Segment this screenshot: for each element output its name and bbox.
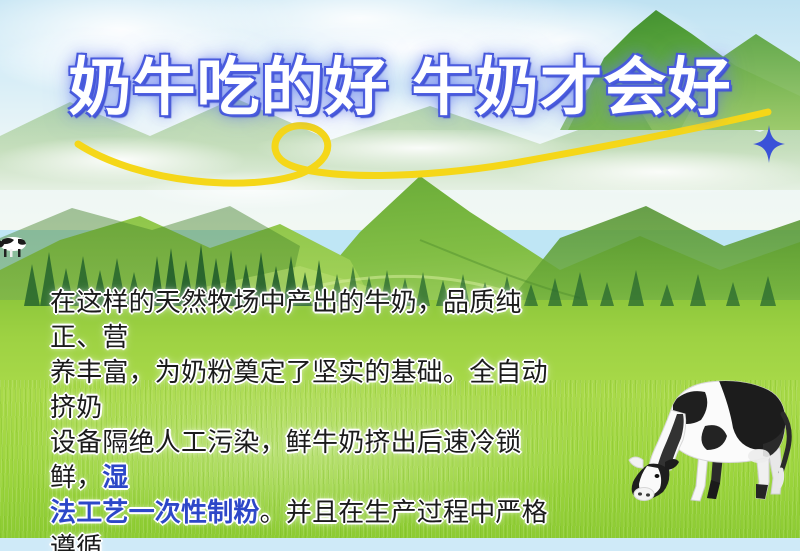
sparkle-star-icon [752,124,786,164]
page-title: 奶牛吃的好 牛奶才会好 [69,46,732,130]
highlight-text-segment: 湿 [102,463,128,493]
body-text-segment: 养丰富，为奶粉奠定了坚实的基础。全自动挤奶 [50,358,548,423]
body-line: 在这样的天然牧场中产出的牛奶，品质纯正、营 [50,286,560,356]
body-text-segment: 在这样的天然牧场中产出的牛奶，品质纯正、营 [50,288,522,353]
distant-cow [0,232,30,258]
highlight-text-segment: 法工艺一次性制粉 [50,498,260,528]
body-line: 法工艺一次性制粉。并且在生产过程中严格遵循 [50,496,560,551]
headline-container: 奶牛吃的好 牛奶才会好 [0,46,800,136]
milk-powder-promo-poster: 奶牛吃的好 牛奶才会好 在这样的天然牧场中产出的牛奶，品质纯正、营 养丰富，为奶… [0,0,800,551]
grazing-holstein-cow [613,352,795,504]
body-line: 养丰富，为奶粉奠定了坚实的基础。全自动挤奶 [50,356,560,426]
body-line: 设备隔绝人工污染，鲜牛奶挤出后速冷锁鲜，湿 [50,426,560,496]
body-copy: 在这样的天然牧场中产出的牛奶，品质纯正、营 养丰富，为奶粉奠定了坚实的基础。全自… [50,286,560,551]
